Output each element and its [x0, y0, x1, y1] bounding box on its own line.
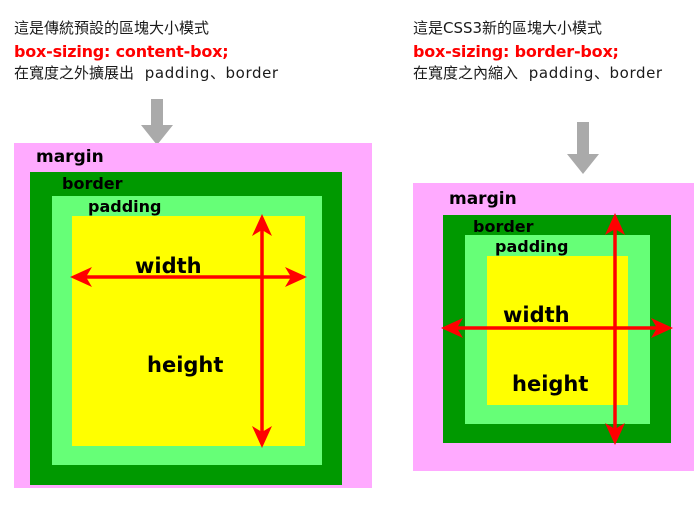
caption-line-3-prefix-right: 在寬度之內縮入 [413, 64, 518, 82]
width-label-left: width [135, 256, 202, 277]
margin-label-right: margin [449, 191, 517, 208]
caption-line-1-right: 這是CSS3新的區塊大小模式 [413, 18, 663, 40]
content-area-left [72, 216, 305, 446]
margin-label-left: margin [36, 149, 104, 166]
box-model-diagram-border-box: margin border padding width height [413, 183, 694, 471]
border-label-right: border [473, 219, 534, 235]
caption-line-3-terms-right: padding、border [529, 64, 663, 82]
height-label-left: height [147, 355, 223, 376]
width-label-right: width [503, 305, 570, 326]
height-label-right: height [512, 374, 588, 395]
padding-label-right: padding [495, 239, 568, 255]
grey-down-arrow-icon-right [566, 122, 600, 170]
caption-border-box: 這是CSS3新的區塊大小模式 box-sizing: border-box; 在… [413, 18, 663, 85]
diagram-canvas: 這是傳統預設的區塊大小模式 box-sizing: content-box; 在… [0, 0, 700, 514]
caption-code-declaration: box-sizing: content-box; [14, 40, 279, 63]
caption-code-declaration-right: box-sizing: border-box; [413, 40, 663, 63]
caption-content-box: 這是傳統預設的區塊大小模式 box-sizing: content-box; 在… [14, 18, 279, 85]
padding-label-left: padding [88, 199, 161, 215]
caption-line-3: 在寬度之外擴展出 padding、border [14, 63, 279, 85]
grey-down-arrow-icon-left [140, 99, 174, 147]
box-model-diagram-content-box: margin border padding width height [14, 143, 372, 488]
caption-line-3-right: 在寬度之內縮入 padding、border [413, 63, 663, 85]
caption-line-3-terms: padding、border [145, 64, 279, 82]
caption-line-1: 這是傳統預設的區塊大小模式 [14, 18, 279, 40]
caption-line-3-prefix: 在寬度之外擴展出 [14, 64, 134, 82]
border-label-left: border [62, 176, 123, 192]
